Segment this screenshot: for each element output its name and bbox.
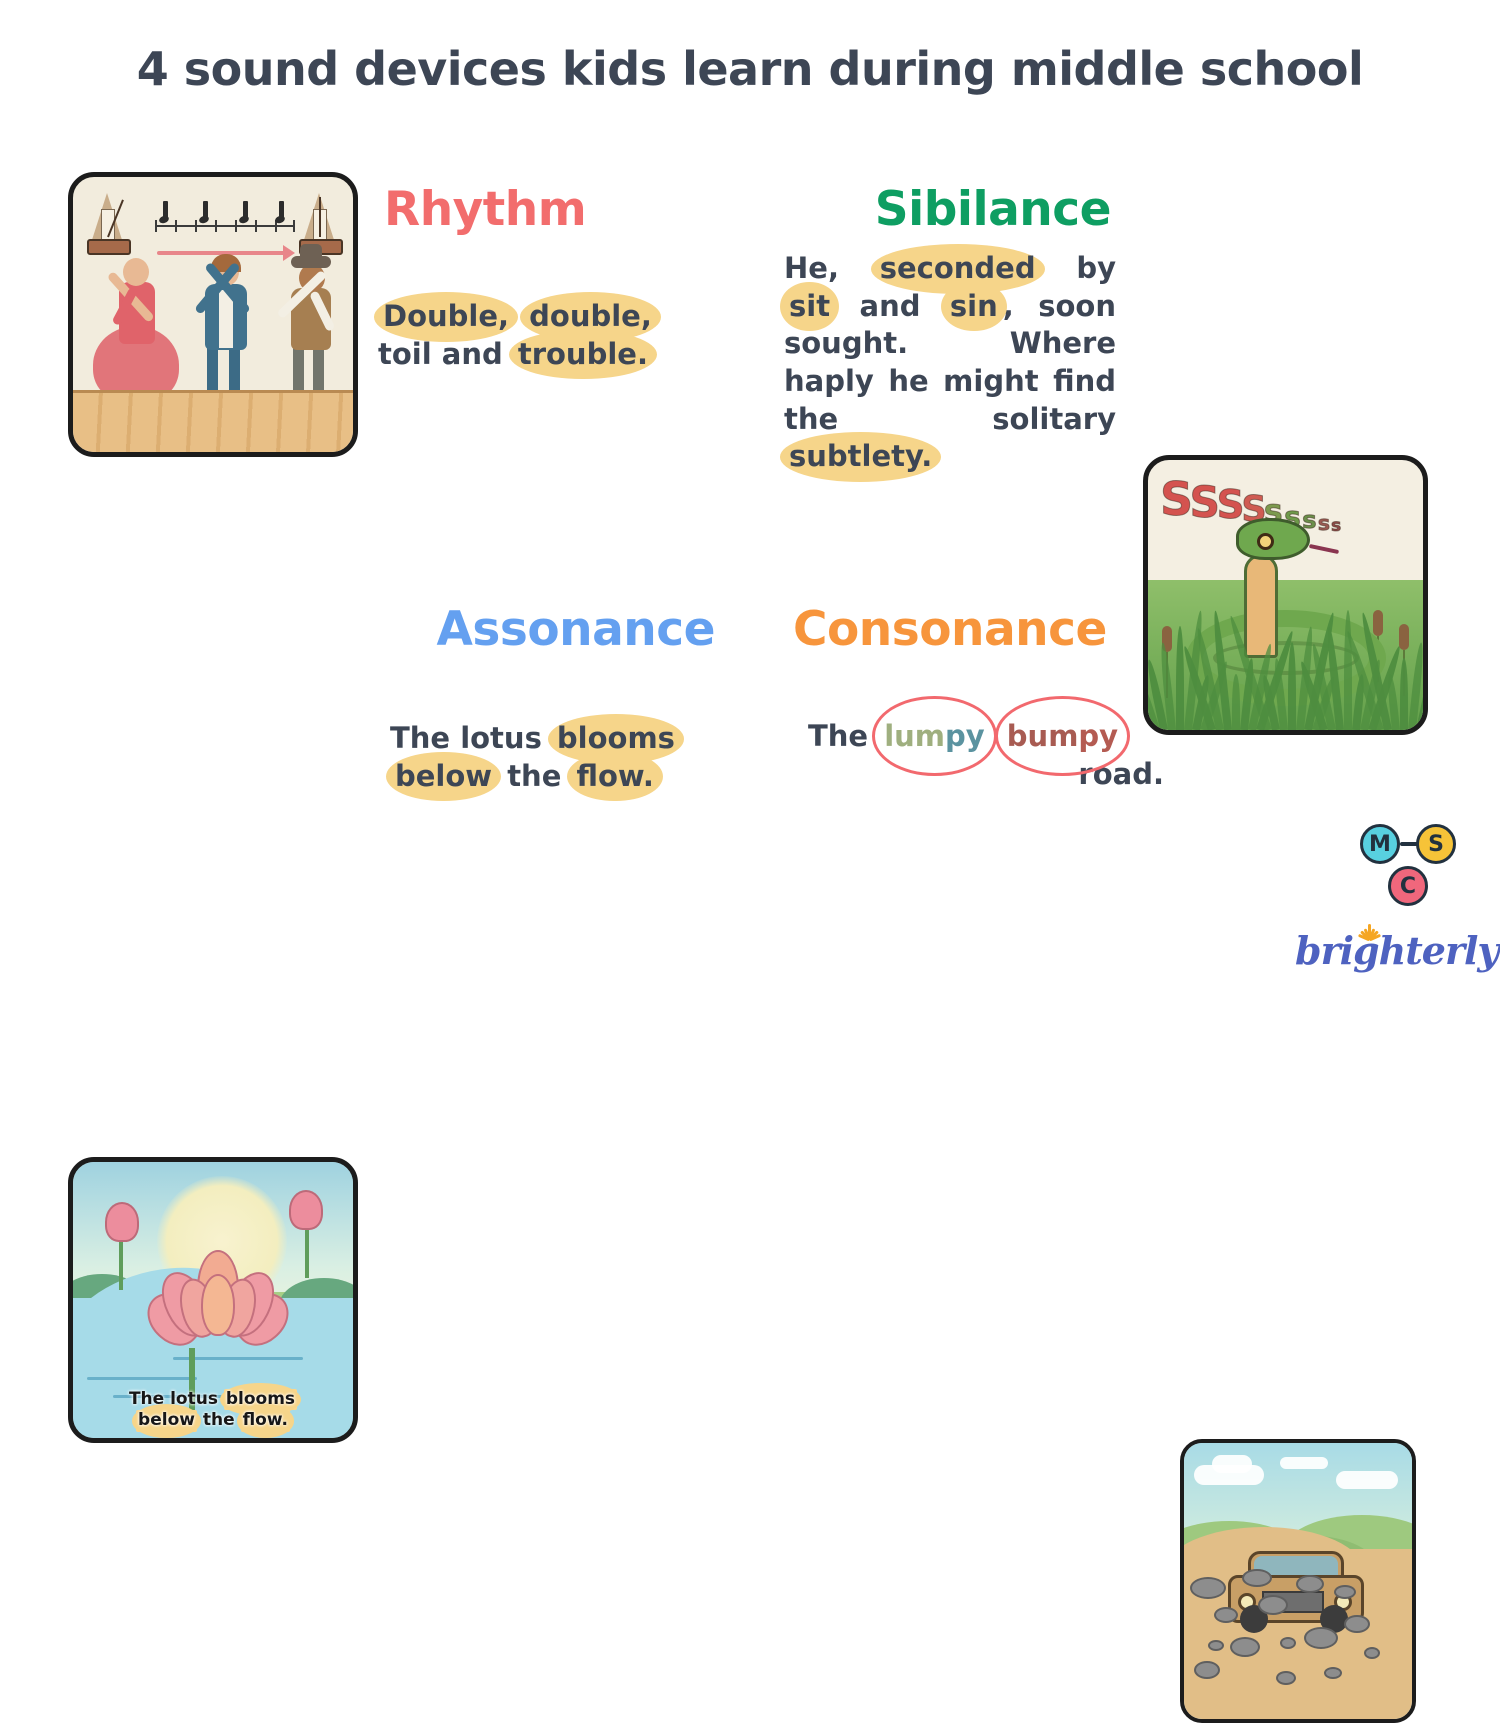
caption-highlight: flow. <box>241 1410 290 1432</box>
rock <box>1296 1575 1324 1593</box>
syllable-py: py <box>945 719 985 753</box>
dancer-figure <box>269 238 355 404</box>
lotus-bud <box>105 1202 139 1242</box>
snake-neck <box>1244 554 1278 658</box>
wooden-floor <box>73 390 353 452</box>
highlighted-word: sin <box>945 288 1003 326</box>
snake-head <box>1236 518 1310 560</box>
example-consonance: The lumpy bumpy road. <box>808 718 1168 793</box>
plain-text: He, <box>784 251 875 285</box>
example-sibilance: He, seconded by sit and sin, soon sought… <box>784 250 1116 476</box>
metronome-icon <box>87 193 127 255</box>
car-dirt-road-illustration <box>1180 1439 1416 1723</box>
rock <box>1208 1640 1224 1651</box>
rock <box>1304 1627 1338 1649</box>
rock <box>1280 1637 1296 1649</box>
dancer-figure <box>91 254 187 404</box>
syllable-lum: lum <box>884 719 945 753</box>
highlighted-word: below <box>390 758 497 796</box>
hat-icon <box>291 256 331 268</box>
lotus-bud <box>289 1190 323 1230</box>
heading-rhythm: Rhythm <box>384 182 586 237</box>
rock <box>1324 1667 1342 1679</box>
example-assonance: The lotus blooms below the flow. <box>390 720 740 795</box>
rock <box>1364 1647 1380 1659</box>
heading-consonance: Consonance <box>793 602 1107 657</box>
circled-word-lumpy: lumpy <box>878 718 990 756</box>
snake-hissing-illustration: SSSSsssss <box>1143 455 1428 735</box>
hiss-letter: s <box>1318 511 1330 535</box>
dancer-figure <box>181 234 273 404</box>
snake-tongue <box>1309 544 1339 554</box>
highlighted-word: seconded <box>875 250 1041 288</box>
hiss-letter: s <box>1331 516 1341 536</box>
plain-text: by <box>1041 251 1116 285</box>
infographic-page: 4 sound devices kids learn during middle… <box>0 0 1500 1000</box>
beat-line <box>155 225 295 227</box>
page-title: 4 sound devices kids learn during middle… <box>0 42 1500 96</box>
highlighted-word: flow. <box>571 758 658 796</box>
plain-text: and <box>835 289 945 323</box>
highlighted-word: sit <box>784 288 835 326</box>
syllable-bum: bum <box>1007 719 1079 753</box>
dancers-metronome-illustration <box>68 172 358 457</box>
brighterly-logo[interactable]: brighterly <box>1283 916 1483 978</box>
badge-s[interactable]: S <box>1416 824 1456 864</box>
hiss-letter: S <box>1160 472 1193 526</box>
highlighted-word: trouble. <box>513 336 653 374</box>
rock <box>1214 1607 1238 1623</box>
lotus-river-illustration: The lotus blooms below the flow. <box>68 1157 358 1443</box>
heading-sibilance: Sibilance <box>875 182 1111 237</box>
lotus-flower <box>151 1248 285 1352</box>
heading-assonance: Assonance <box>437 602 716 657</box>
caption-highlight: below <box>136 1410 197 1432</box>
rock <box>1334 1585 1356 1599</box>
rock <box>1258 1595 1288 1615</box>
badge-cluster: M S C <box>1352 824 1460 908</box>
caption-text: the <box>197 1410 241 1430</box>
circled-word-bumpy: bumpy <box>1001 718 1124 756</box>
hiss-letter: S <box>1189 478 1220 527</box>
highlighted-word: Double, <box>378 298 514 336</box>
plain-text: The lotus <box>390 721 552 755</box>
rock <box>1190 1577 1226 1599</box>
syllable-py: py <box>1078 719 1118 753</box>
plain-text: toil and <box>378 337 513 371</box>
lotus-embedded-caption: The lotus blooms below the flow. <box>73 1389 353 1433</box>
rock <box>1344 1615 1370 1633</box>
rock <box>1242 1569 1272 1587</box>
badge-c[interactable]: C <box>1388 866 1428 906</box>
rock <box>1276 1671 1296 1685</box>
badge-m[interactable]: M <box>1360 824 1400 864</box>
hiss-letter: S <box>1217 483 1245 528</box>
snake-eye <box>1257 533 1274 550</box>
rock <box>1230 1637 1260 1657</box>
highlighted-word: subtlety. <box>784 438 937 476</box>
rock <box>1194 1661 1220 1679</box>
consonance-plain: The <box>808 719 878 753</box>
plain-text: the <box>497 759 571 793</box>
logo-wordmark: brighterly <box>1295 928 1499 973</box>
example-rhythm: Double, double, toil and trouble. <box>378 298 712 373</box>
